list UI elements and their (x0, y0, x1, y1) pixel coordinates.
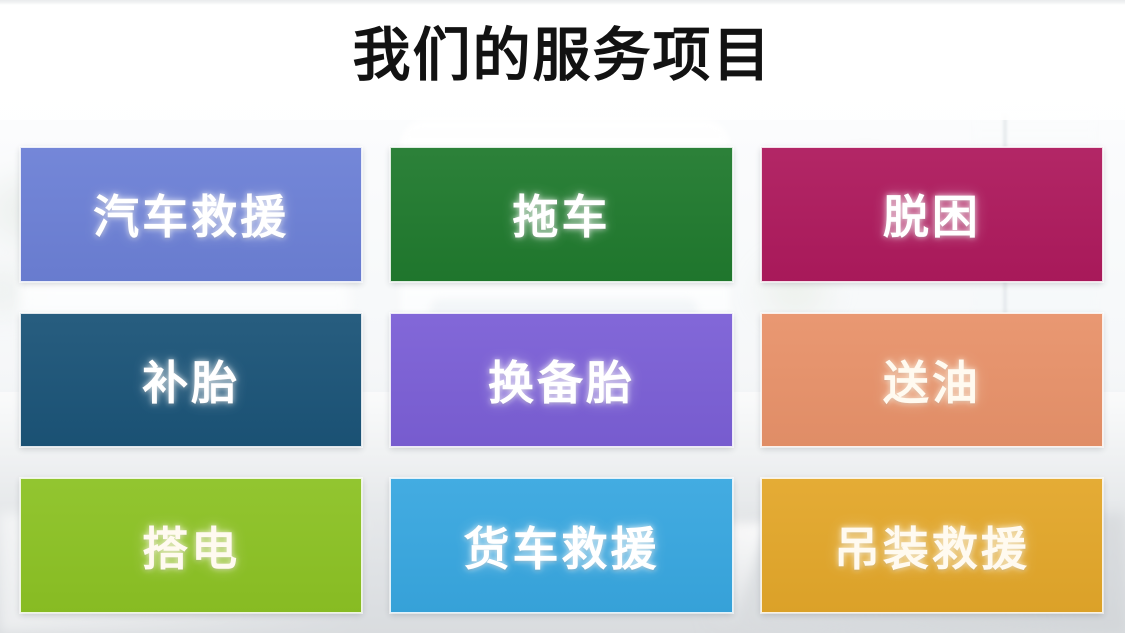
service-tile-label: 补胎 (142, 347, 240, 413)
service-tile-label: 搭电 (142, 513, 240, 579)
service-tile-2[interactable]: 拖车 (390, 147, 732, 282)
service-tile-label: 送油 (883, 347, 981, 413)
service-tile-7[interactable]: 搭电 (20, 478, 362, 613)
service-poster: 我们的服务项目 汽车救援 拖车 脱困 补胎 换备胎 送油 搭电 货车救援 吊装救… (0, 0, 1125, 633)
service-tile-8[interactable]: 货车救援 (390, 478, 732, 613)
service-tile-label: 汽车救援 (93, 181, 289, 247)
service-grid: 汽车救援 拖车 脱困 补胎 换备胎 送油 搭电 货车救援 吊装救援 (20, 147, 1103, 613)
service-tile-9[interactable]: 吊装救援 (761, 478, 1103, 613)
service-tile-5[interactable]: 换备胎 (390, 313, 732, 448)
service-tile-label: 吊装救援 (834, 513, 1030, 579)
service-tile-6[interactable]: 送油 (761, 313, 1103, 448)
service-tile-1[interactable]: 汽车救援 (20, 147, 362, 282)
service-tile-label: 换备胎 (488, 347, 635, 413)
service-tile-label: 拖车 (512, 181, 610, 247)
service-tile-3[interactable]: 脱困 (761, 147, 1103, 282)
service-tile-4[interactable]: 补胎 (20, 313, 362, 448)
service-tile-label: 货车救援 (463, 513, 659, 579)
service-tile-label: 脱困 (883, 181, 981, 247)
page-title: 我们的服务项目 (0, 23, 1125, 88)
top-hairline (0, 0, 1125, 5)
